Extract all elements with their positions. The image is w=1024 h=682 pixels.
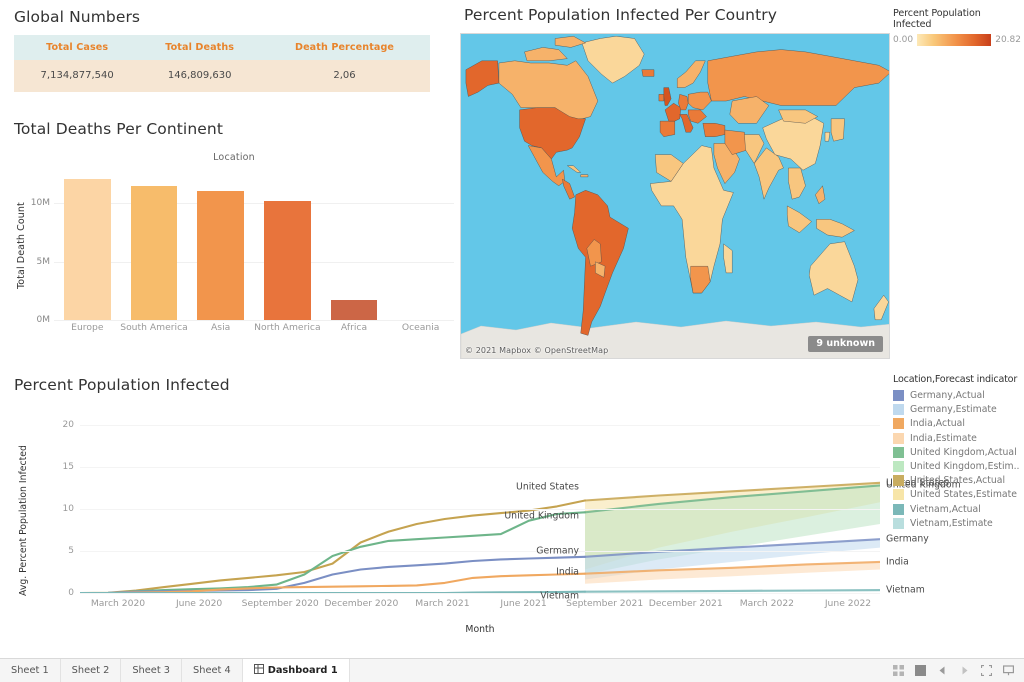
bar-chart-x-tick: South America bbox=[120, 322, 188, 333]
line-chart-gridline bbox=[80, 593, 880, 594]
legend-color-swatch bbox=[893, 433, 904, 444]
map-color-legend: Percent Population Infected 0.00 20.82 bbox=[893, 8, 1021, 46]
bar-chart-plot-area[interactable]: 0M5M10M bbox=[54, 168, 454, 320]
line-chart-x-tick: March 2021 bbox=[415, 598, 469, 609]
global-numbers-panel: Global Numbers Total Cases Total Deaths … bbox=[8, 8, 432, 92]
map-poland-ukraine[interactable] bbox=[688, 92, 711, 110]
legend-item[interactable]: Germany,Estimate bbox=[893, 404, 1024, 415]
global-numbers-table: Total Cases Total Deaths Death Percentag… bbox=[14, 35, 430, 92]
map-greenland[interactable] bbox=[582, 36, 644, 83]
map-iberia[interactable] bbox=[660, 121, 675, 137]
legend-color-swatch bbox=[893, 390, 904, 401]
line-series-actual[interactable] bbox=[80, 512, 585, 593]
map-russia[interactable] bbox=[708, 50, 890, 106]
legend-item[interactable]: Germany,Actual bbox=[893, 390, 1024, 401]
bar-column[interactable] bbox=[397, 168, 444, 320]
line-chart-x-tick: September 2020 bbox=[242, 598, 319, 609]
map-alaska[interactable] bbox=[466, 61, 499, 97]
bar-chart-x-tick: North America bbox=[254, 322, 321, 333]
sheet-tab-label: Sheet 3 bbox=[132, 665, 170, 676]
table-row[interactable]: 7,134,877,540 146,809,630 2,06 bbox=[14, 60, 430, 92]
bar-column[interactable] bbox=[264, 168, 311, 320]
cell-death-percentage: 2,06 bbox=[259, 60, 430, 92]
line-chart-x-tick: June 2020 bbox=[176, 598, 222, 609]
map-indonesia[interactable] bbox=[787, 206, 811, 233]
map-indochina[interactable] bbox=[788, 168, 805, 199]
map-canada-islands[interactable] bbox=[525, 47, 568, 60]
line-chart-x-tick: September 2021 bbox=[566, 598, 643, 609]
bar-rect[interactable] bbox=[197, 191, 244, 320]
line-chart-x-axis-label: Month bbox=[80, 624, 880, 635]
tableau-dashboard: Global Numbers Total Cases Total Deaths … bbox=[0, 0, 1024, 682]
legend-item[interactable]: Vietnam,Actual bbox=[893, 504, 1024, 515]
map-australia[interactable] bbox=[809, 242, 858, 302]
line-chart-x-tick: December 2021 bbox=[649, 598, 723, 609]
map-new-zealand[interactable] bbox=[874, 295, 889, 320]
percent-population-infected-panel: Percent Population Infected Avg. Percent… bbox=[8, 376, 892, 646]
line-chart-legend: Location,Forecast indicator Germany,Actu… bbox=[893, 374, 1024, 532]
map-ellesmere[interactable] bbox=[555, 36, 586, 47]
map-unknown-badge[interactable]: 9 unknown bbox=[808, 336, 883, 352]
presentation-mode-icon[interactable] bbox=[1003, 665, 1014, 676]
legend-color-swatch bbox=[893, 504, 904, 515]
map-philippines[interactable] bbox=[815, 186, 825, 204]
map-japan[interactable] bbox=[831, 119, 845, 141]
legend-color-swatch bbox=[893, 447, 904, 458]
sheet-tab-sheet-3[interactable]: Sheet 3 bbox=[121, 659, 182, 682]
legend-item[interactable]: India,Estimate bbox=[893, 433, 1024, 444]
line-chart-y-tick: 20 bbox=[63, 420, 74, 430]
legend-item[interactable]: Vietnam,Estimate bbox=[893, 518, 1024, 529]
legend-item-label: Vietnam,Actual bbox=[910, 504, 981, 515]
cell-total-deaths: 146,809,630 bbox=[140, 60, 259, 92]
bar-column[interactable] bbox=[64, 168, 111, 320]
line-chart-gridline bbox=[80, 551, 880, 552]
sheet-tab-bar: Sheet 1Sheet 2Sheet 3Sheet 4Dashboard 1 bbox=[0, 658, 1024, 682]
map-panel: Percent Population Infected Per Country … bbox=[460, 6, 892, 359]
legend-color-swatch bbox=[893, 475, 904, 486]
legend-color-swatch bbox=[893, 418, 904, 429]
sheet-tab-sheet-1[interactable]: Sheet 1 bbox=[0, 659, 61, 682]
line-chart-x-tick: June 2022 bbox=[825, 598, 871, 609]
sheet-tab-label: Dashboard 1 bbox=[268, 665, 338, 676]
map-legend-title: Percent Population Infected bbox=[893, 8, 1021, 30]
bar-chart-x-tick: Europe bbox=[71, 322, 103, 333]
next-sheet-icon[interactable] bbox=[959, 665, 970, 676]
bar-rect[interactable] bbox=[264, 201, 311, 320]
line-chart-y-tick: 0 bbox=[68, 588, 74, 598]
bar-chart-column-header: Location bbox=[8, 152, 460, 163]
map-south-america[interactable] bbox=[572, 190, 628, 335]
line-chart-y-tick: 5 bbox=[68, 546, 74, 556]
line-series-end-label: Vietnam bbox=[886, 585, 925, 596]
show-filmstrip-icon[interactable] bbox=[981, 665, 992, 676]
cell-total-cases: 7,134,877,540 bbox=[14, 60, 140, 92]
map-attribution: © 2021 Mapbox © OpenStreetMap bbox=[465, 346, 608, 355]
map-france[interactable] bbox=[665, 103, 681, 121]
dashboard-grid-icon bbox=[254, 664, 264, 677]
line-chart-plot-area[interactable]: 05101520United StatesUnited KingdomGerma… bbox=[80, 408, 880, 593]
bar-chart-y-tick: 10M bbox=[31, 198, 50, 208]
map-legend-max-value: 20.82 bbox=[995, 35, 1021, 45]
map-cuba[interactable] bbox=[567, 166, 580, 173]
map-uk[interactable] bbox=[664, 88, 671, 106]
line-series-mid-label: United States bbox=[516, 481, 579, 492]
legend-item[interactable]: United States,Estimate bbox=[893, 489, 1024, 500]
global-numbers-title: Global Numbers bbox=[14, 8, 432, 26]
column-header-total-deaths: Total Deaths bbox=[140, 35, 259, 60]
sheet-tab-label: Sheet 1 bbox=[11, 665, 49, 676]
map-scandinavia[interactable] bbox=[677, 61, 705, 88]
bar-column[interactable] bbox=[131, 168, 178, 320]
bar-chart-gridline bbox=[54, 203, 454, 204]
legend-color-swatch bbox=[893, 518, 904, 529]
line-chart-x-tick: June 2021 bbox=[500, 598, 546, 609]
map-iceland[interactable] bbox=[642, 70, 654, 77]
line-legend-title: Location,Forecast indicator bbox=[893, 374, 1024, 385]
map-legend-min-value: 0.00 bbox=[893, 35, 913, 45]
total-deaths-per-continent-panel: Total Deaths Per Continent Location Tota… bbox=[8, 120, 460, 335]
map-legend-ramp-row: 0.00 20.82 bbox=[893, 34, 1021, 46]
bar-chart-gridline bbox=[54, 320, 454, 321]
line-series-mid-label: India bbox=[556, 566, 579, 577]
legend-color-swatch bbox=[893, 404, 904, 415]
bar-rect[interactable] bbox=[131, 186, 178, 320]
legend-color-swatch bbox=[893, 489, 904, 500]
legend-item[interactable]: United Kingdom,Estim.. bbox=[893, 461, 1024, 472]
bar-chart-x-tick: Oceania bbox=[402, 322, 440, 333]
map-hispaniola[interactable] bbox=[581, 175, 588, 177]
line-chart-x-tick: March 2020 bbox=[91, 598, 145, 609]
bar-chart-x-tick: Africa bbox=[341, 322, 367, 333]
world-map[interactable]: © 2021 Mapbox © OpenStreetMap 9 unknown bbox=[460, 33, 890, 359]
map-ireland[interactable] bbox=[659, 94, 664, 101]
line-chart-gridline bbox=[80, 467, 880, 468]
column-header-death-percentage: Death Percentage bbox=[259, 35, 430, 60]
line-series-end-label: India bbox=[886, 556, 909, 567]
sheet-tab-label: Sheet 4 bbox=[193, 665, 231, 676]
legend-item[interactable]: United Kingdom,Actual bbox=[893, 447, 1024, 458]
line-chart-x-tick: March 2022 bbox=[740, 598, 794, 609]
legend-item-label: United Kingdom,Estim.. bbox=[910, 461, 1020, 472]
bar-chart-title: Total Deaths Per Continent bbox=[14, 120, 460, 138]
legend-item-label: India,Actual bbox=[910, 418, 965, 429]
map-new-guinea[interactable] bbox=[817, 219, 855, 237]
map-turkey[interactable] bbox=[703, 123, 725, 136]
legend-item[interactable]: United States,Actual bbox=[893, 475, 1024, 486]
line-chart-y-axis-label: Avg. Percent Population Infected bbox=[18, 436, 32, 606]
line-chart-y-tick: 15 bbox=[63, 462, 74, 472]
line-chart-gridline bbox=[80, 509, 880, 510]
map-central-america[interactable] bbox=[562, 179, 574, 199]
sheet-tab-sheet-4[interactable]: Sheet 4 bbox=[182, 659, 243, 682]
column-header-total-cases: Total Cases bbox=[14, 35, 140, 60]
bar-chart-y-tick: 5M bbox=[37, 257, 51, 267]
legend-color-swatch bbox=[893, 461, 904, 472]
bar-chart-x-tick: Asia bbox=[211, 322, 230, 333]
line-chart-svg[interactable] bbox=[80, 408, 880, 593]
legend-item-label: Germany,Estimate bbox=[910, 404, 997, 415]
line-series-mid-label: Germany bbox=[536, 545, 579, 556]
sheet-bar-controls bbox=[893, 665, 1024, 676]
legend-item-label: United States,Actual bbox=[910, 475, 1005, 486]
new-dashboard-icon[interactable] bbox=[915, 665, 926, 676]
sheet-tab-dashboard-1[interactable]: Dashboard 1 bbox=[243, 659, 350, 682]
line-chart-title: Percent Population Infected bbox=[14, 376, 892, 394]
line-chart-x-tick: December 2020 bbox=[324, 598, 398, 609]
map-title: Percent Population Infected Per Country bbox=[464, 6, 892, 24]
legend-item-label: Germany,Actual bbox=[910, 390, 985, 401]
table-header-row: Total Cases Total Deaths Death Percentag… bbox=[14, 35, 430, 60]
bar-rect[interactable] bbox=[64, 179, 111, 320]
line-chart-gridline bbox=[80, 425, 880, 426]
legend-item-label: United States,Estimate bbox=[910, 489, 1017, 500]
map-balkans[interactable] bbox=[688, 110, 706, 123]
legend-item-label: United Kingdom,Actual bbox=[910, 447, 1017, 458]
bar-chart-y-tick: 0M bbox=[37, 315, 51, 325]
bar-column[interactable] bbox=[331, 168, 378, 320]
map-korea[interactable] bbox=[825, 132, 830, 141]
world-map-svg[interactable] bbox=[461, 34, 890, 359]
map-legend-color-ramp[interactable] bbox=[917, 34, 991, 46]
line-series-end-label: Germany bbox=[886, 534, 929, 545]
bar-column[interactable] bbox=[197, 168, 244, 320]
legend-item-label: India,Estimate bbox=[910, 433, 977, 444]
line-chart-y-tick: 10 bbox=[63, 504, 74, 514]
map-south-africa[interactable] bbox=[691, 266, 711, 293]
map-madagascar[interactable] bbox=[724, 244, 733, 273]
bar-rect[interactable] bbox=[331, 300, 378, 320]
map-germany[interactable] bbox=[678, 94, 688, 110]
legend-item[interactable]: India,Actual bbox=[893, 418, 1024, 429]
legend-item-label: Vietnam,Estimate bbox=[910, 518, 993, 529]
new-worksheet-icon[interactable] bbox=[893, 665, 904, 676]
bar-chart-gridline bbox=[54, 262, 454, 263]
previous-sheet-icon[interactable] bbox=[937, 665, 948, 676]
line-series-mid-label: United Kingdom bbox=[504, 511, 579, 522]
sheet-tab-sheet-2[interactable]: Sheet 2 bbox=[61, 659, 122, 682]
sheet-tab-label: Sheet 2 bbox=[72, 665, 110, 676]
bar-chart-y-axis-label: Total Death Count bbox=[16, 178, 30, 313]
